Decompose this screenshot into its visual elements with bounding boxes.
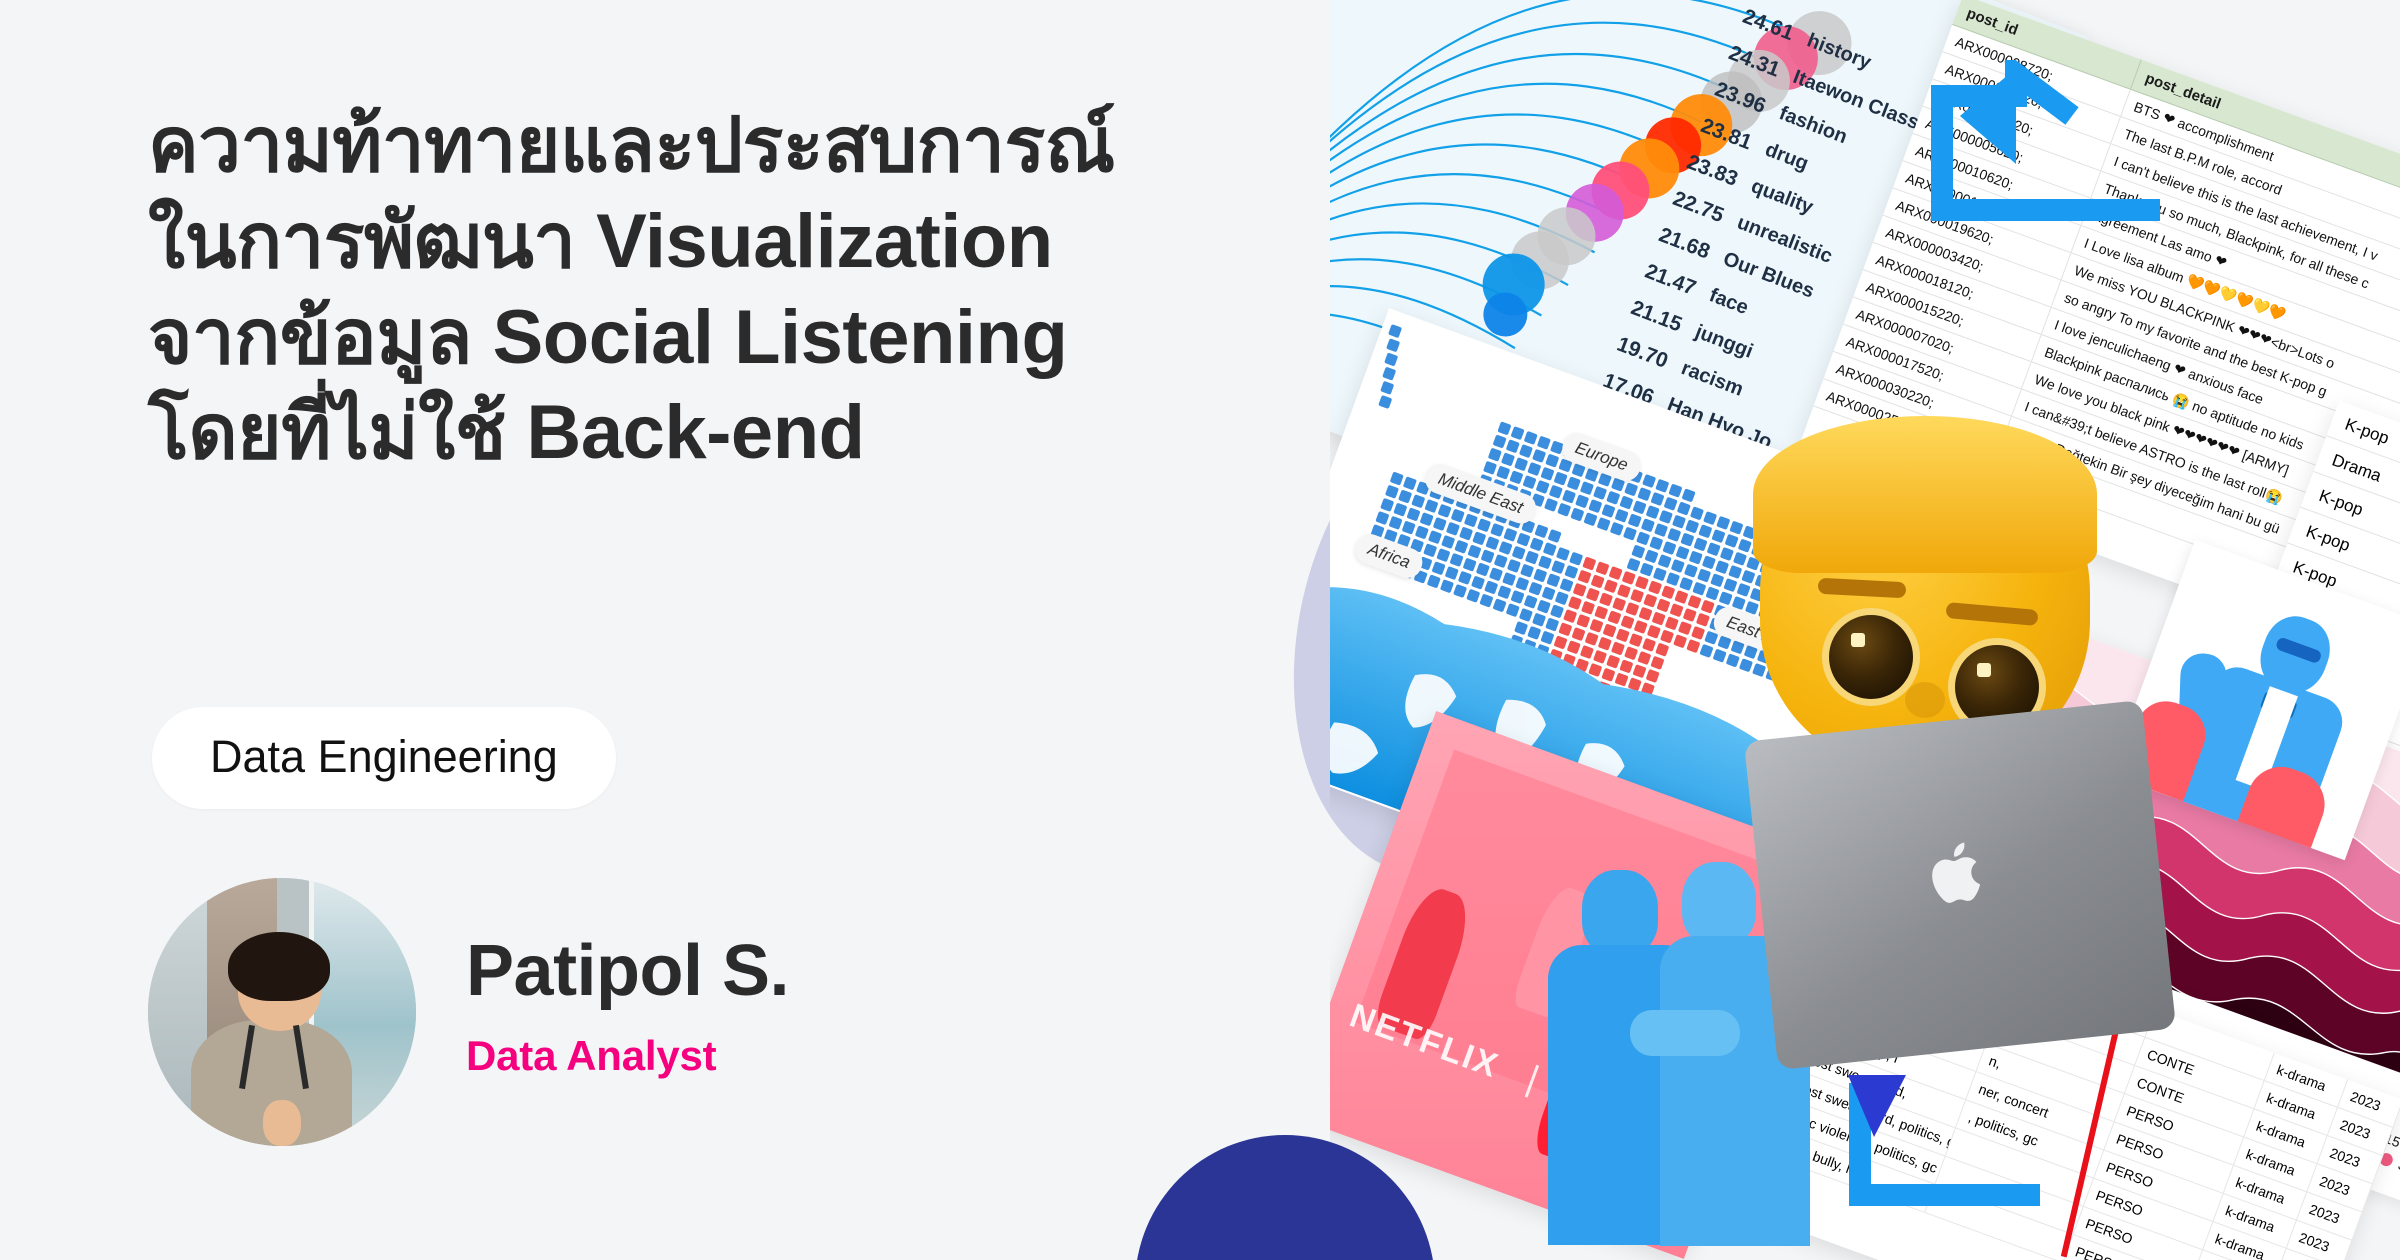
map-dot	[1624, 646, 1638, 660]
map-dot	[1436, 548, 1450, 562]
collage-inner: 24.61history 24.31Itaewon Class 23.96fas…	[1330, 0, 2400, 1260]
map-dot	[1506, 603, 1520, 617]
map-dot	[1514, 457, 1528, 471]
map-dot	[1685, 519, 1699, 533]
map-dot	[1680, 533, 1694, 547]
map-dot	[1509, 470, 1523, 484]
map-dot	[1674, 590, 1688, 604]
map-dot	[1524, 595, 1538, 609]
map-dot	[1454, 540, 1468, 554]
map-dot	[1654, 523, 1668, 537]
map-dot	[1545, 454, 1559, 468]
map-dot	[1677, 501, 1691, 515]
map-dot	[1673, 634, 1687, 648]
map-dot	[1445, 566, 1459, 580]
map-dot	[1406, 507, 1420, 521]
map-dot	[1453, 584, 1467, 598]
map-dot	[1499, 541, 1513, 555]
headline-line-1: ความท้าทายและประสบการณ์	[148, 98, 1268, 194]
map-dot	[1540, 467, 1554, 481]
headline-line-4: โดยที่ไม่ใช้ Back-end	[148, 385, 1268, 481]
map-dot	[1375, 511, 1389, 525]
map-dot	[1432, 561, 1446, 575]
map-dot	[1503, 528, 1517, 542]
map-dot	[1501, 452, 1515, 466]
map-dot	[1636, 531, 1650, 545]
map-dot	[1378, 395, 1392, 409]
map-dot	[1510, 590, 1524, 604]
map-dot	[1594, 606, 1608, 620]
map-dot	[1388, 516, 1402, 530]
map-dot	[1483, 461, 1497, 475]
map-dot	[1691, 626, 1705, 640]
map-dot	[1536, 480, 1550, 494]
map-dot	[1481, 549, 1495, 563]
map-dot	[1631, 545, 1645, 559]
map-dot	[1548, 529, 1562, 543]
map-dot	[1611, 641, 1625, 655]
category-badge[interactable]: Data Engineering	[152, 707, 616, 809]
map-dot	[1575, 494, 1589, 508]
map-dot	[1532, 613, 1546, 627]
map-dot	[1604, 579, 1618, 593]
map-dot	[1692, 582, 1706, 596]
map-dot	[1682, 488, 1696, 502]
map-dot	[1427, 574, 1441, 588]
map-dot	[1689, 551, 1703, 565]
map-dot	[1558, 622, 1572, 636]
map-dot	[1723, 578, 1737, 592]
statue-head-left	[1582, 870, 1658, 956]
map-dot	[1710, 573, 1724, 587]
map-dot	[1599, 592, 1613, 606]
map-dot	[1479, 594, 1493, 608]
map-dot	[1588, 499, 1602, 513]
map-dot	[1610, 522, 1624, 536]
map-dot	[1607, 610, 1621, 624]
speaker-role: Data Analyst	[466, 1032, 789, 1080]
map-dot	[1621, 615, 1635, 629]
map-dot	[1699, 644, 1713, 658]
map-dot	[1661, 585, 1675, 599]
map-dot	[1459, 527, 1473, 541]
map-dot	[1642, 638, 1656, 652]
map-dot	[1638, 607, 1652, 621]
map-dot	[1696, 613, 1710, 627]
map-dot	[1506, 439, 1520, 453]
map-dot	[1698, 524, 1712, 538]
map-dot	[1617, 584, 1631, 598]
map-dot	[1403, 476, 1417, 490]
map-dot	[1537, 436, 1551, 450]
map-dot	[1667, 528, 1681, 542]
map-dot	[1658, 554, 1672, 568]
map-dot	[1601, 504, 1615, 518]
map-dot	[1433, 517, 1447, 531]
map-dot	[1672, 515, 1686, 529]
map-dot	[1398, 489, 1412, 503]
map-dot	[1519, 608, 1533, 622]
map-dot	[1420, 512, 1434, 526]
map-dot	[1428, 530, 1442, 544]
emoji-eye-left	[1822, 608, 1920, 706]
map-dot	[1615, 509, 1629, 523]
map-dot	[1571, 627, 1585, 641]
map-dot	[1573, 583, 1587, 597]
map-dot	[1687, 595, 1701, 609]
map-dot	[1670, 603, 1684, 617]
map-dot	[1655, 479, 1669, 493]
map-dot	[1524, 431, 1538, 445]
map-dot	[1683, 608, 1697, 622]
map-dot	[1580, 481, 1594, 495]
map-dot	[1554, 472, 1568, 486]
map-dot	[1549, 485, 1563, 499]
avatar-photo	[148, 878, 416, 1146]
poster-canvas: 24.61history 24.31Itaewon Class 23.96fas…	[0, 0, 2400, 1260]
map-dot	[1562, 489, 1576, 503]
map-dot	[1576, 614, 1590, 628]
map-dot	[1380, 498, 1394, 512]
map-dot	[1522, 475, 1536, 489]
map-dot	[1671, 559, 1685, 573]
map-dot	[1720, 547, 1734, 561]
map-dot	[1650, 492, 1664, 506]
map-dot	[1525, 550, 1539, 564]
map-dot	[1623, 527, 1637, 541]
map-dot	[1384, 352, 1398, 366]
map-dot	[1627, 558, 1641, 572]
map-dot	[1556, 547, 1570, 561]
map-dot	[1489, 567, 1503, 581]
laptop-icon	[1744, 700, 2176, 1070]
headline-line-2: ในการพัฒนา Visualization	[148, 194, 1268, 290]
map-dot	[1726, 653, 1740, 667]
map-dot	[1527, 462, 1541, 476]
speaker-block: Patipol S. Data Analyst	[148, 878, 789, 1146]
map-dot	[1606, 491, 1620, 505]
map-dot	[1729, 521, 1743, 535]
map-dot	[1464, 513, 1478, 527]
map-dot	[1629, 633, 1643, 647]
bubble-label: drug	[1762, 139, 1812, 176]
map-dot	[1716, 516, 1730, 530]
avatar-hair	[228, 932, 330, 1002]
map-dot	[1569, 552, 1583, 566]
map-dot	[1390, 472, 1404, 486]
map-dot	[1704, 631, 1718, 645]
map-dot	[1382, 367, 1396, 381]
map-dot	[1635, 576, 1649, 590]
map-dot	[1656, 598, 1670, 612]
map-dot	[1652, 612, 1666, 626]
map-dot	[1703, 511, 1717, 525]
map-dot	[1519, 444, 1533, 458]
statue-arm	[1630, 1010, 1740, 1056]
map-dot	[1497, 585, 1511, 599]
map-dot	[1581, 601, 1595, 615]
map-dot	[1676, 546, 1690, 560]
blue-arrow-icon	[1920, 60, 2320, 360]
page-title: ความท้าทายและประสบการณ์ ในการพัฒนา Visua…	[148, 98, 1268, 481]
map-dot	[1586, 588, 1600, 602]
map-dot	[1609, 566, 1623, 580]
map-dot	[1612, 597, 1626, 611]
map-dot	[1477, 518, 1491, 532]
apple-logo-icon	[1924, 833, 1993, 911]
map-dot	[1733, 552, 1747, 566]
map-dot	[1463, 558, 1477, 572]
map-dot	[1496, 466, 1510, 480]
map-dot	[1534, 524, 1548, 538]
bubble-label: face	[1706, 284, 1752, 320]
map-dot	[1678, 621, 1692, 635]
map-dot	[1466, 589, 1480, 603]
map-dot	[1686, 639, 1700, 653]
map-dot	[1471, 576, 1485, 590]
map-dot	[1633, 500, 1647, 514]
emoji-hair	[1753, 416, 2096, 572]
map-dot	[1702, 555, 1716, 569]
map-dot	[1393, 503, 1407, 517]
map-dot	[1446, 522, 1460, 536]
avatar	[148, 878, 416, 1146]
visualization-collage: 24.61history 24.31Itaewon Class 23.96fas…	[1330, 0, 2400, 1260]
map-dot	[1532, 449, 1546, 463]
map-dot	[1660, 629, 1674, 643]
map-dot	[1476, 562, 1490, 576]
emoji-nose	[1905, 682, 1945, 718]
map-dot	[1497, 421, 1511, 435]
speaker-text: Patipol S. Data Analyst	[466, 934, 789, 1090]
speaker-name: Patipol S.	[466, 934, 789, 1010]
map-dot	[1544, 498, 1558, 512]
map-dot	[1664, 497, 1678, 511]
map-dot	[1642, 474, 1656, 488]
map-dot	[1650, 656, 1664, 670]
map-dot	[1737, 583, 1751, 597]
map-dot	[1440, 579, 1454, 593]
map-dot	[1713, 649, 1727, 663]
map-dot	[1402, 521, 1416, 535]
map-dot	[1582, 556, 1596, 570]
map-dot	[1705, 586, 1719, 600]
map-dot	[1739, 658, 1753, 672]
map-dot	[1537, 600, 1551, 614]
map-dot	[1545, 617, 1559, 631]
map-dot	[1542, 586, 1556, 600]
map-dot	[1546, 573, 1560, 587]
map-dot	[1449, 553, 1463, 567]
map-dot	[1725, 534, 1739, 548]
map-dot	[1719, 591, 1733, 605]
map-dot	[1662, 541, 1676, 555]
map-dot	[1589, 619, 1603, 633]
map-dot	[1597, 517, 1611, 531]
map-dot	[1628, 513, 1642, 527]
map-dot	[1644, 549, 1658, 563]
map-dot	[1512, 546, 1526, 560]
map-dot	[1451, 509, 1465, 523]
map-dot	[1619, 495, 1633, 509]
map-dot	[1564, 565, 1578, 579]
map-dot	[1551, 560, 1565, 574]
map-dot	[1386, 338, 1400, 352]
map-dot	[1490, 523, 1504, 537]
map-dot	[1528, 582, 1542, 596]
map-dot	[1649, 536, 1663, 550]
left-content-column: ความท้าทายและประสบการณ์ ในการพัฒนา Visua…	[0, 0, 1300, 1260]
map-dot	[1646, 505, 1660, 519]
map-dot	[1488, 448, 1502, 462]
map-dot	[1485, 536, 1499, 550]
map-dot	[1493, 434, 1507, 448]
map-dot	[1543, 542, 1557, 556]
map-dot	[1653, 567, 1667, 581]
map-dot	[1555, 591, 1569, 605]
map-dot	[1484, 580, 1498, 594]
map-dot	[1424, 499, 1438, 513]
map-dot	[1577, 570, 1591, 584]
map-dot	[1411, 494, 1425, 508]
map-dot	[1467, 544, 1481, 558]
map-dot	[1560, 578, 1574, 592]
map-dot	[1690, 506, 1704, 520]
map-dot	[1738, 539, 1752, 553]
map-dot	[1603, 623, 1617, 637]
map-dot	[1648, 580, 1662, 594]
map-dot	[1647, 625, 1661, 639]
map-dot	[1380, 381, 1394, 395]
map-dot	[1557, 503, 1571, 517]
blue-arrow-annotation	[1920, 60, 2320, 360]
map-dot	[1665, 616, 1679, 630]
map-dot	[1570, 507, 1584, 521]
map-dot	[1568, 596, 1582, 610]
map-dot	[1472, 531, 1486, 545]
map-dot	[1625, 602, 1639, 616]
map-dot	[1458, 571, 1472, 585]
map-dot	[1741, 570, 1755, 584]
map-dot	[1438, 504, 1452, 518]
map-dot	[1630, 589, 1644, 603]
map-dot	[1637, 487, 1651, 501]
map-dot	[1637, 651, 1651, 665]
map-dot	[1707, 542, 1721, 556]
map-dot	[1494, 554, 1508, 568]
legend-label: JENNY	[2396, 1156, 2400, 1187]
map-dot	[1441, 535, 1455, 549]
map-dot	[1595, 561, 1609, 575]
map-dot	[1668, 484, 1682, 498]
map-dot	[1515, 577, 1529, 591]
map-dot	[1502, 572, 1516, 586]
map-dot	[1550, 604, 1564, 618]
map-dot	[1697, 568, 1711, 582]
map-dot	[1616, 628, 1630, 642]
map-dot	[1591, 574, 1605, 588]
map-dot	[1598, 637, 1612, 651]
map-dot	[1701, 600, 1715, 614]
map-dot	[1643, 594, 1657, 608]
avatar-thumbs-up	[263, 1100, 301, 1146]
map-dot	[1385, 485, 1399, 499]
map-dot	[1567, 476, 1581, 490]
map-dot	[1563, 609, 1577, 623]
map-dot	[1666, 572, 1680, 586]
map-dot	[1728, 565, 1742, 579]
map-dot	[1533, 568, 1547, 582]
map-dot	[1415, 525, 1429, 539]
blue-bracket-annotation	[1840, 1075, 2100, 1250]
map-dot	[1655, 643, 1669, 657]
map-dot	[1516, 533, 1530, 547]
map-dot	[1711, 529, 1725, 543]
map-dot	[1583, 512, 1597, 526]
map-dot	[1593, 486, 1607, 500]
headline-line-3: จากข้อมูล Social Listening	[148, 290, 1268, 386]
map-dot	[1520, 564, 1534, 578]
map-dot	[1530, 537, 1544, 551]
map-dot	[1622, 571, 1636, 585]
bracket-icon	[1840, 1075, 2100, 1245]
map-dot	[1624, 482, 1638, 496]
map-dot	[1641, 518, 1655, 532]
map-dot	[1585, 632, 1599, 646]
map-dot	[1507, 559, 1521, 573]
map-dot	[1684, 564, 1698, 578]
map-dot	[1640, 562, 1654, 576]
map-dot	[1511, 426, 1525, 440]
map-dot	[1679, 577, 1693, 591]
map-dot	[1659, 510, 1673, 524]
map-dot	[1693, 537, 1707, 551]
map-dot	[1715, 560, 1729, 574]
statue-head-right	[1682, 862, 1756, 946]
map-dot	[1538, 555, 1552, 569]
map-dot	[1388, 324, 1402, 338]
map-dot	[1634, 620, 1648, 634]
map-dot	[1423, 543, 1437, 557]
map-dot	[1493, 598, 1507, 612]
